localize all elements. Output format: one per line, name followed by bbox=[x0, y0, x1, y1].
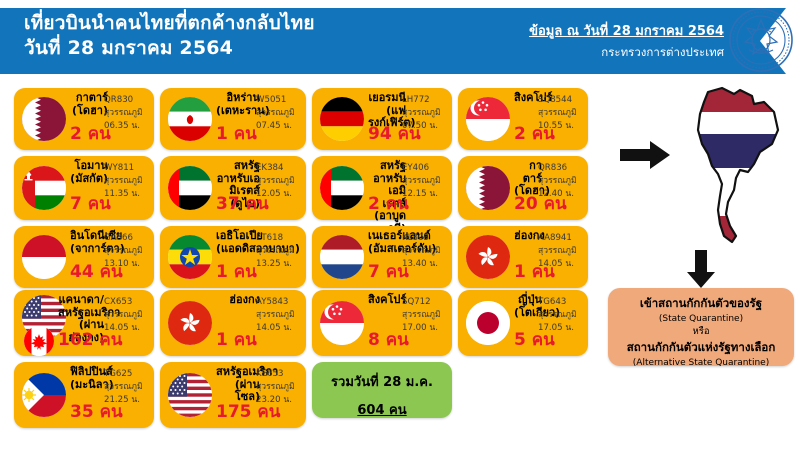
arrival-time: 13.25 น. bbox=[256, 258, 300, 271]
arrival-airport: สุวรรณภูมิ bbox=[538, 309, 582, 322]
quarantine-info-box: เข้าสถานกักกันตัวของรัฐ (State Quarantin… bbox=[608, 288, 794, 366]
flight-number: LH772 bbox=[402, 94, 446, 107]
arrival-time: 11.35 น. bbox=[104, 188, 148, 201]
flag-philippines-icon bbox=[22, 373, 66, 417]
city-label: (มะนิลา) bbox=[70, 379, 108, 392]
arrival-airport: สุวรรณภูมิ bbox=[256, 107, 300, 120]
passenger-count: 1 คน bbox=[216, 332, 257, 349]
ministry-of-foreign-affairs-emblem bbox=[727, 6, 795, 74]
flight-number: EY406 bbox=[402, 162, 446, 175]
flight-details: ET618 สุวรรณภูมิ 13.25 น. bbox=[256, 232, 300, 271]
arrival-airport: สุวรรณภูมิ bbox=[402, 107, 446, 120]
flight-number: TG643 bbox=[538, 296, 582, 309]
page-title-line2: วันที่ 28 มกราคม 2564 bbox=[24, 36, 315, 61]
flight-card-text: กาตาร์ (โดฮา) 2 คน QR830 สุวรรณภูมิ 06.3… bbox=[70, 92, 150, 147]
flag-uae-icon bbox=[320, 166, 364, 210]
data-as-of-date: ข้อมูล ณ วันที่ 28 มกราคม 2564 bbox=[529, 20, 724, 41]
flight-card-text: เยอรมนี (แฟรงก์เฟิร์ต) 94 คน LH772 สุวรร… bbox=[368, 92, 448, 147]
flight-card-text: สิงคโปร์ 2 คน SQ8544 สุวรรณภูมิ 10.55 น. bbox=[514, 92, 584, 147]
flight-card-grid: กาตาร์ (โดฮา) 2 คน QR830 สุวรรณภูมิ 06.3… bbox=[0, 84, 600, 444]
flag-uae-icon bbox=[168, 166, 212, 210]
flight-details: WY811 สุวรรณภูมิ 11.35 น. bbox=[104, 162, 148, 201]
arrival-airport: สุวรรณภูมิ bbox=[256, 175, 300, 188]
flight-card-text: อิหร่าน (เตหะราน) 1 คน W5051 สุวรรณภูมิ … bbox=[216, 92, 302, 147]
arrival-time: 07.45 น. bbox=[256, 120, 300, 133]
city-label: (แอดดิสอาบาบา) bbox=[216, 243, 260, 256]
arrow-down-icon bbox=[686, 250, 716, 288]
arrival-time: 21.25 น. bbox=[104, 394, 148, 407]
flight-card-text: อินโดนีเซีย (จาการ์ตา) 44 คน GA866 สุวรร… bbox=[70, 230, 150, 285]
flag-germany-icon bbox=[320, 97, 364, 141]
flight-card-text: ฮ่องกง 1 คน AA8941 สุวรรณภูมิ 14.05 น. bbox=[514, 230, 584, 285]
arrival-airport: สุวรรณภูมิ bbox=[104, 309, 148, 322]
flight-card: กาตาร์ (โดฮา) 2 คน QR830 สุวรรณภูมิ 06.3… bbox=[14, 88, 154, 150]
flight-number: QR830 bbox=[104, 94, 148, 107]
country-label: โอมาน bbox=[75, 159, 108, 172]
flag-japan-icon bbox=[466, 301, 510, 345]
flight-details: W5051 สุวรรณภูมิ 07.45 น. bbox=[256, 94, 300, 133]
flight-number: AA8941 bbox=[538, 232, 582, 245]
flight-card-text: โอมาน (มัสกัต) 7 คน WY811 สุวรรณภูมิ 11.… bbox=[70, 160, 150, 217]
flight-details: LH772 สุวรรณภูมิ 07.50 น. bbox=[402, 94, 446, 133]
flight-number: W5051 bbox=[256, 94, 300, 107]
flight-number: KL803 bbox=[402, 232, 446, 245]
quarantine-line-2: (State Quarantine) bbox=[608, 314, 794, 324]
flight-number: SQ8544 bbox=[538, 94, 582, 107]
arrival-airport: สุวรรณภูมิ bbox=[538, 175, 582, 188]
flight-card: สิงคโปร์ 2 คน SQ8544 สุวรรณภูมิ 10.55 น. bbox=[458, 88, 588, 150]
flight-number: GA866 bbox=[104, 232, 148, 245]
arrival-airport: สุวรรณภูมิ bbox=[104, 107, 148, 120]
flight-number: TG625 bbox=[104, 368, 148, 381]
arrival-time: 14.05 น. bbox=[104, 322, 148, 335]
arrival-time: 17.00 น. bbox=[402, 322, 446, 335]
flight-number: CX653 bbox=[104, 296, 148, 309]
flight-card: อิหร่าน (เตหะราน) 1 คน W5051 สุวรรณภูมิ … bbox=[160, 88, 306, 150]
flight-details: QR836 สุวรรณภูมิ 12.40 น. bbox=[538, 162, 582, 201]
flag-singapore-icon bbox=[466, 97, 510, 141]
ministry-name: กระทรวงการต่างประเทศ bbox=[529, 44, 724, 62]
arrival-time: 07.50 น. bbox=[402, 120, 446, 133]
flight-card-text: ฟิลิปปินส์ (มะนิลา) 35 คน TG625 สุวรรณภู… bbox=[70, 366, 150, 425]
country-label: เยอรมนี bbox=[369, 91, 407, 104]
quarantine-line-3: หรือ bbox=[608, 324, 794, 339]
arrival-airport: สุวรรณภูมิ bbox=[256, 245, 300, 258]
arrival-airport: สุวรรณภูมิ bbox=[104, 175, 148, 188]
city-label: (เตหะราน) bbox=[216, 105, 260, 118]
arrival-airport: สุวรรณภูมิ bbox=[402, 245, 446, 258]
flight-card: เนเธอร์แลนด์ (อัมสเตอร์ดัม) 7 คน KL803 ส… bbox=[312, 226, 452, 288]
arrival-airport: สุวรรณภูมิ bbox=[256, 381, 300, 394]
flight-details: SQ8544 สุวรรณภูมิ 10.55 น. bbox=[538, 94, 582, 133]
flight-details: CX653 สุวรรณภูมิ 14.05 น. bbox=[104, 296, 148, 335]
arrival-airport: สุวรรณภูมิ bbox=[402, 309, 446, 322]
flight-details: QR830 สุวรรณภูมิ 06.35 น. bbox=[104, 94, 148, 133]
arrival-time: 23.20 น. bbox=[256, 394, 300, 407]
arrival-airport: สุวรรณภูมิ bbox=[402, 175, 446, 188]
flag-ethiopia-icon bbox=[168, 235, 212, 279]
flight-number: AY5843 bbox=[256, 296, 300, 309]
flight-card: สหรัฐอาหรับเอมิเรตส์ (ดูไบ) 37 คน EK384 … bbox=[160, 156, 306, 220]
flight-card: แคนาดา/สหรัฐอเมริกา (ผ่านฮ่องกง) 162 คน … bbox=[14, 290, 154, 356]
daily-total-card: รวมวันที่ 28 ม.ค. 604 คน bbox=[312, 362, 452, 418]
flight-card: เยอรมนี (แฟรงก์เฟิร์ต) 94 คน LH772 สุวรร… bbox=[312, 88, 452, 150]
flight-number: SQ712 bbox=[402, 296, 446, 309]
arrival-airport: สุวรรณภูมิ bbox=[538, 245, 582, 258]
flag-hongkong-icon bbox=[466, 235, 510, 279]
flag-canada-icon bbox=[24, 326, 54, 356]
flight-card: โอมาน (มัสกัต) 7 คน WY811 สุวรรณภูมิ 11.… bbox=[14, 156, 154, 220]
arrival-time: 12.40 น. bbox=[538, 188, 582, 201]
arrival-time: 12.15 น. bbox=[402, 188, 446, 201]
flight-details: SQ712 สุวรรณภูมิ 17.00 น. bbox=[402, 296, 446, 335]
flight-details: TG625 สุวรรณภูมิ 21.25 น. bbox=[104, 368, 148, 407]
arrow-right-icon bbox=[620, 140, 670, 170]
arrival-airport: สุวรรณภูมิ bbox=[538, 107, 582, 120]
total-label: รวมวันที่ 28 ม.ค. bbox=[312, 371, 452, 392]
flight-card: สิงคโปร์ 8 คน SQ712 สุวรรณภูมิ 17.00 น. bbox=[312, 290, 452, 356]
city-label: (โดฮา) bbox=[70, 105, 108, 118]
flag-qatar-icon bbox=[22, 97, 66, 141]
country-label: สิงคโปร์ bbox=[368, 293, 406, 306]
flight-card: กาตาร์ (โดฮา) 20 คน QR836 สุวรรณภูมิ 12.… bbox=[458, 156, 588, 220]
flag-oman-icon bbox=[22, 166, 66, 210]
passenger-count: 1 คน bbox=[216, 126, 257, 143]
flight-card-text: แคนาดา/สหรัฐอเมริกา (ผ่านฮ่องกง) 162 คน … bbox=[58, 294, 150, 353]
passenger-count: 1 คน bbox=[216, 264, 257, 281]
flight-details: EY406 สุวรรณภูมิ 12.15 น. bbox=[402, 162, 446, 201]
flight-card: ฮ่องกง 1 คน AA8941 สุวรรณภูมิ 14.05 น. bbox=[458, 226, 588, 288]
flight-number: EK384 bbox=[256, 162, 300, 175]
flight-card-text: เนเธอร์แลนด์ (อัมสเตอร์ดัม) 7 คน KL803 ส… bbox=[368, 230, 448, 285]
total-value: 604 คน bbox=[312, 399, 452, 420]
flight-details: GA866 สุวรรณภูมิ 13.10 น. bbox=[104, 232, 148, 271]
flight-card-text: ญี่ปุ่น (โตเกียว) 5 คน TG643 สุวรรณภูมิ … bbox=[514, 294, 584, 353]
arrival-time: 14.05 น. bbox=[256, 322, 300, 335]
country-label: อิหร่าน bbox=[227, 91, 260, 104]
flag-indonesia-icon bbox=[22, 235, 66, 279]
arrival-time: 13.40 น. bbox=[402, 258, 446, 271]
city-label: (จาการ์ตา) bbox=[70, 243, 108, 256]
flight-card: ฮ่องกง 1 คน AY5843 สุวรรณภูมิ 14.05 น. bbox=[160, 290, 306, 356]
page-title: เที่ยวบินนำคนไทยที่ตกค้างกลับไทย วันที่ … bbox=[24, 11, 315, 61]
arrival-time: 13.10 น. bbox=[104, 258, 148, 271]
flight-card-text: กาตาร์ (โดฮา) 20 คน QR836 สุวรรณภูมิ 12.… bbox=[514, 160, 584, 217]
city-label: (อัมสเตอร์ดัม) bbox=[368, 243, 406, 256]
flag-singapore-icon bbox=[320, 301, 364, 345]
arrival-airport: สุวรรณภูมิ bbox=[104, 381, 148, 394]
flight-card-text: เอธิโอเปีย (แอดดิสอาบาบา) 1 คน ET618 สุว… bbox=[216, 230, 302, 285]
flight-card: สหรัฐอาหรับเอมิเรตส์ (อาบูดาบี) 2 คน EY4… bbox=[312, 156, 452, 220]
flight-number: KE653 bbox=[256, 368, 300, 381]
flight-card: ญี่ปุ่น (โตเกียว) 5 คน TG643 สุวรรณภูมิ … bbox=[458, 290, 588, 356]
flight-card-text: สหรัฐอาหรับเอมิเรตส์ (อาบูดาบี) 2 คน EY4… bbox=[368, 160, 448, 217]
flight-details: KE653 สุวรรณภูมิ 23.20 น. bbox=[256, 368, 300, 407]
flight-details: AA8941 สุวรรณภูมิ 14.05 น. bbox=[538, 232, 582, 271]
flight-card-text: สหรัฐอเมริกา (ผ่านโซล) 175 คน KE653 สุวร… bbox=[216, 366, 302, 425]
flight-details: KL803 สุวรรณภูมิ 13.40 น. bbox=[402, 232, 446, 271]
flight-details: EK384 สุวรรณภูมิ 12.05 น. bbox=[256, 162, 300, 201]
flight-number: ET618 bbox=[256, 232, 300, 245]
page-title-line1: เที่ยวบินนำคนไทยที่ตกค้างกลับไทย bbox=[24, 12, 315, 34]
flight-card-text: สิงคโปร์ 8 คน SQ712 สุวรรณภูมิ 17.00 น. bbox=[368, 294, 448, 353]
thailand-map-flag bbox=[678, 86, 788, 246]
flight-card: อินโดนีเซีย (จาการ์ตา) 44 คน GA866 สุวรร… bbox=[14, 226, 154, 288]
country-label: สหรัฐอาหรับเอมิเรตส์ bbox=[217, 159, 260, 197]
arrival-time: 06.35 น. bbox=[104, 120, 148, 133]
flight-number: WY811 bbox=[104, 162, 148, 175]
arrival-time: 17.05 น. bbox=[538, 322, 582, 335]
arrival-time: 12.05 น. bbox=[256, 188, 300, 201]
flight-card: เอธิโอเปีย (แอดดิสอาบาบา) 1 คน ET618 สุว… bbox=[160, 226, 306, 288]
flight-card: สหรัฐอเมริกา (ผ่านโซล) 175 คน KE653 สุวร… bbox=[160, 362, 306, 428]
city-label: (มัสกัต) bbox=[70, 173, 108, 186]
flight-card-text: สหรัฐอาหรับเอมิเรตส์ (ดูไบ) 37 คน EK384 … bbox=[216, 160, 302, 217]
arrival-airport: สุวรรณภูมิ bbox=[104, 245, 148, 258]
flag-iran-icon bbox=[168, 97, 212, 141]
arrival-airport: สุวรรณภูมิ bbox=[256, 309, 300, 322]
quarantine-line-1: เข้าสถานกักกันตัวของรัฐ bbox=[608, 295, 794, 313]
flag-hongkong-icon bbox=[168, 301, 212, 345]
flight-details: AY5843 สุวรรณภูมิ 14.05 น. bbox=[256, 296, 300, 335]
flag-qatar-icon bbox=[466, 166, 510, 210]
quarantine-line-5: (Alternative State Quarantine) bbox=[608, 358, 794, 368]
flag-netherlands-icon bbox=[320, 235, 364, 279]
flight-details: TG643 สุวรรณภูมิ 17.05 น. bbox=[538, 296, 582, 335]
city-label: (ผ่านโซล) bbox=[216, 379, 260, 404]
arrival-time: 10.55 น. bbox=[538, 120, 582, 133]
flag-usa-icon bbox=[168, 373, 212, 417]
flight-card: ฟิลิปปินส์ (มะนิลา) 35 คน TG625 สุวรรณภู… bbox=[14, 362, 154, 428]
arrival-time: 14.05 น. bbox=[538, 258, 582, 271]
flight-card-text: ฮ่องกง 1 คน AY5843 สุวรรณภูมิ 14.05 น. bbox=[216, 294, 302, 353]
header-meta: ข้อมูล ณ วันที่ 28 มกราคม 2564 กระทรวงกา… bbox=[529, 20, 724, 62]
flight-number: QR836 bbox=[538, 162, 582, 175]
quarantine-line-4: สถานกักกันตัวแห่งรัฐทางเลือก bbox=[608, 339, 794, 357]
